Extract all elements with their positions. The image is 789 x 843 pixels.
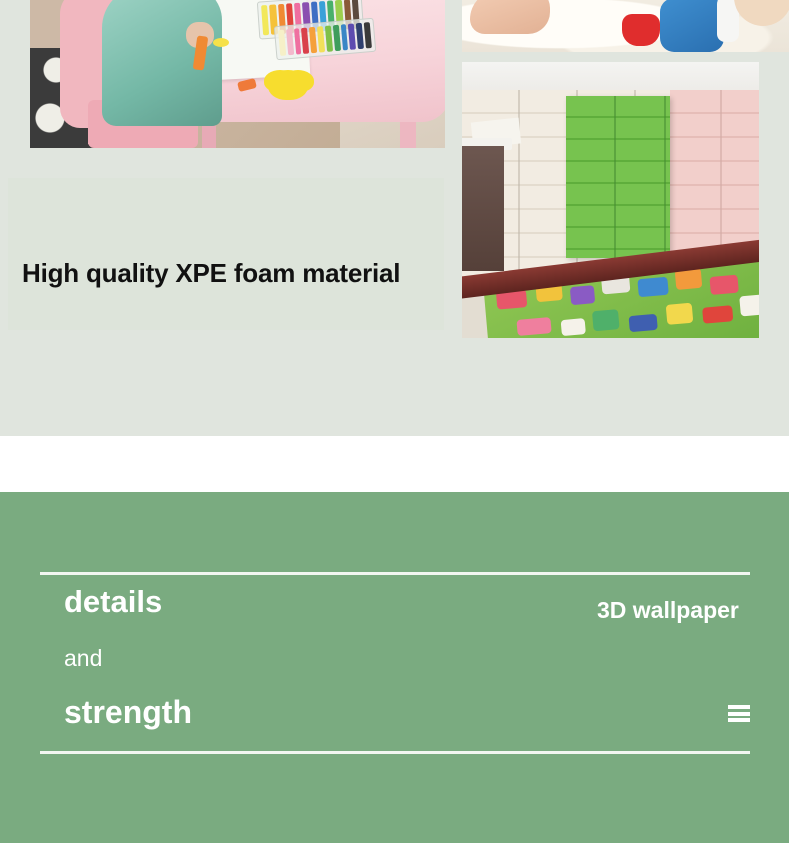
hamburger-menu-icon[interactable] [728,705,750,722]
photo-cabinet [462,146,504,271]
photo-yellow-clay-blob [268,70,308,100]
photo-baby-arm [470,0,550,34]
hamburger-bar-1 [728,705,750,709]
section-spacer [0,436,789,492]
banner-headline-line-2: and [64,645,102,672]
photo-3d-brick-wallpaper-room [462,62,759,338]
banner-divider-top [40,572,750,575]
photo-child-drawing-at-pink-table [30,0,445,148]
material-headline-card [8,178,444,330]
material-section [0,0,789,436]
material-headline: High quality XPE foam material [22,258,400,289]
banner-headline-line-3: strength [64,694,192,731]
banner-section [0,492,789,843]
photo-red-toy [622,14,660,46]
photo-blue-toy [660,0,724,52]
banner-headline-line-1: details [64,584,162,620]
hamburger-bar-3 [728,718,750,722]
hamburger-bar-2 [728,712,750,716]
photo-green-brick-wallpaper [566,96,670,258]
banner-tagline: 3D wallpaper [597,597,739,624]
banner-divider-bottom [40,751,750,754]
photo-baby-on-fur-rug [462,0,789,52]
photo-yellow-dab [213,38,229,47]
